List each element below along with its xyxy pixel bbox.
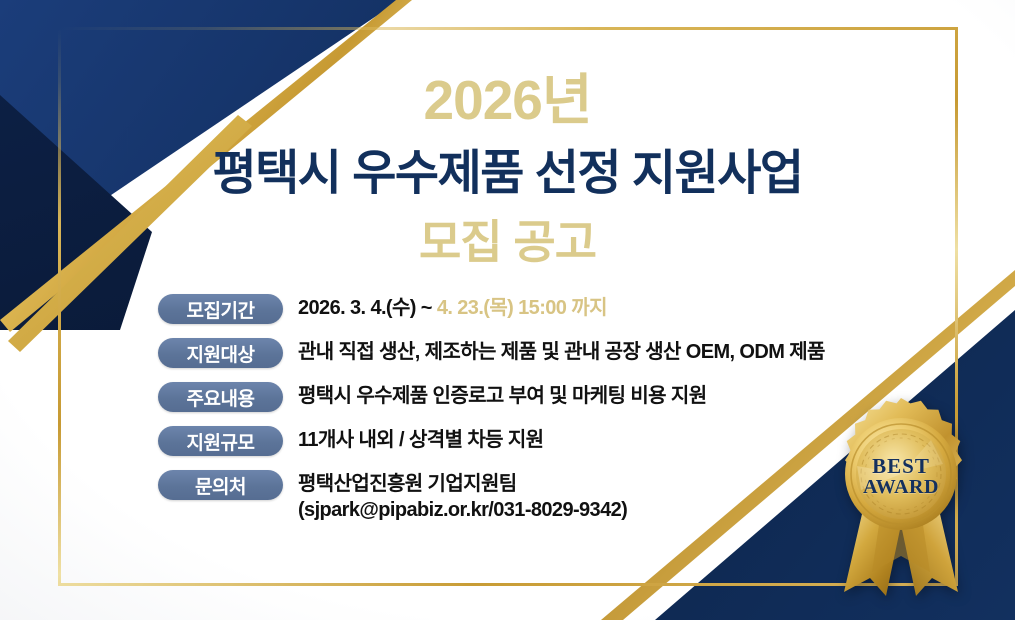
- info-value-contact: 평택산업진흥원 기업지원팀 (sjpark@pipabiz.or.kr/031-…: [298, 468, 627, 524]
- info-label-contact: 문의처: [158, 470, 283, 500]
- contact-team-text: 평택산업진흥원 기업지원팀: [298, 471, 627, 497]
- poster-year: 2026년: [0, 72, 1015, 130]
- info-label-support-scale: 지원규모: [158, 426, 283, 456]
- info-value-eligibility: 관내 직접 생산, 제조하는 제품 및 관내 공장 생산 OEM, ODM 제품: [298, 336, 825, 365]
- award-rosette-icon: [806, 396, 996, 606]
- info-row-support-scale: 지원규모 11개사 내외 / 상격별 차등 지원: [158, 424, 918, 456]
- info-list: 모집기간 2026. 3. 4.(수) ~ 4. 23.(목) 15:00 까지…: [158, 292, 918, 524]
- info-label-eligibility: 지원대상: [158, 338, 283, 368]
- info-label-recruitment-period: 모집기간: [158, 294, 283, 324]
- poster-title: 평택시 우수제품 선정 지원사업: [0, 148, 1015, 201]
- info-row-recruitment-period: 모집기간 2026. 3. 4.(수) ~ 4. 23.(목) 15:00 까지: [158, 292, 918, 324]
- best-award-badge: BEST AWARD: [806, 396, 996, 606]
- info-row-main-content: 주요내용 평택시 우수제품 인증로고 부여 및 마케팅 비용 지원: [158, 380, 918, 412]
- period-start-text: 2026. 3. 4.(수) ~: [298, 297, 437, 319]
- poster-canvas: 2026년 평택시 우수제품 선정 지원사업 모집 공고 모집기간 2026. …: [0, 0, 1015, 620]
- info-label-main-content: 주요내용: [158, 382, 283, 412]
- contact-email-phone-text: (sjpark@pipabiz.or.kr/031-8029-9342): [298, 497, 627, 523]
- info-row-contact: 문의처 평택산업진흥원 기업지원팀 (sjpark@pipabiz.or.kr/…: [158, 468, 918, 524]
- badge-line1: BEST: [806, 456, 996, 477]
- badge-line2: AWARD: [806, 477, 996, 497]
- poster-subtitle: 모집 공고: [0, 217, 1015, 268]
- info-value-recruitment-period: 2026. 3. 4.(수) ~ 4. 23.(목) 15:00 까지: [298, 292, 607, 321]
- info-value-main-content: 평택시 우수제품 인증로고 부여 및 마케팅 비용 지원: [298, 380, 707, 409]
- badge-text: BEST AWARD: [806, 456, 996, 498]
- info-row-eligibility: 지원대상 관내 직접 생산, 제조하는 제품 및 관내 공장 생산 OEM, O…: [158, 336, 918, 368]
- period-end-text: 4. 23.(목) 15:00 까지: [437, 297, 607, 319]
- info-value-support-scale: 11개사 내외 / 상격별 차등 지원: [298, 424, 543, 453]
